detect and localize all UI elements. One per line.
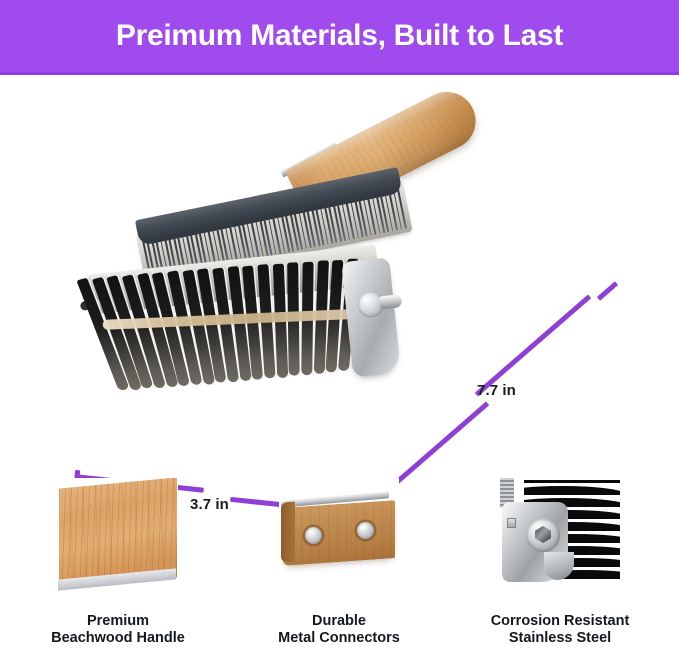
metal-rivet-icon	[357, 522, 374, 539]
feature-caption: Durable Metal Connectors	[236, 613, 442, 647]
feature-item-beachwood-handle: Premium Beachwood Handle	[15, 465, 221, 650]
curved-blade-rake-group	[85, 242, 399, 423]
steel-bolt-icon	[526, 518, 560, 552]
wood-grain-thumbnail	[58, 478, 178, 591]
stainless-steel-thumbnail	[500, 478, 620, 591]
dimension-length-label: 7.7 in	[477, 382, 516, 399]
feature-item-stainless-steel: Corrosion Resistant Stainless Steel	[457, 465, 663, 650]
feature-row: Premium Beachwood Handle Durable Metal C…	[0, 465, 679, 650]
product-hero-image: 3.7 in 7.7 in	[0, 75, 679, 465]
feature-caption: Corrosion Resistant Stainless Steel	[457, 613, 663, 647]
steel-blade	[524, 480, 620, 483]
metal-rivet-icon	[305, 527, 322, 544]
feature-caption: Premium Beachwood Handle	[15, 613, 221, 647]
feature-caption-line-2: Metal Connectors	[236, 630, 442, 647]
connector-wood-block	[283, 500, 395, 566]
feature-item-metal-connectors: Durable Metal Connectors	[236, 465, 442, 650]
feature-caption-line-2: Beachwood Handle	[15, 630, 221, 647]
connector-wood-edge	[281, 502, 295, 563]
dimension-length-cap-top	[597, 281, 618, 301]
steel-notch	[507, 518, 516, 528]
feature-caption-line-1: Durable	[236, 613, 442, 630]
feature-caption-line-1: Premium	[15, 613, 221, 630]
header-banner: Preimum Materials, Built to Last	[0, 0, 679, 75]
feature-caption-line-2: Stainless Steel	[457, 630, 663, 647]
feature-caption-line-1: Corrosion Resistant	[457, 613, 663, 630]
page-title: Preimum Materials, Built to Last	[0, 0, 679, 72]
steel-blade	[524, 486, 620, 495]
metal-connectors-thumbnail	[279, 478, 399, 591]
